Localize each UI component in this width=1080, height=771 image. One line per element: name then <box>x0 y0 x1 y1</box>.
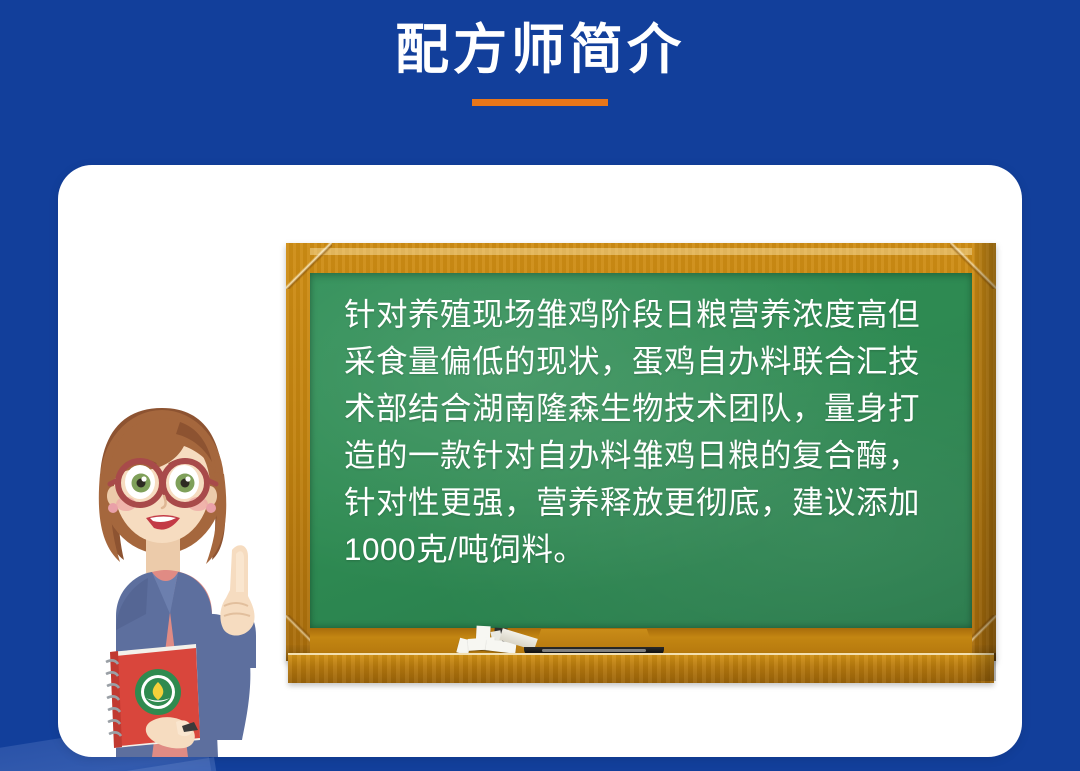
eraser-felt-highlight <box>542 649 646 652</box>
nutritionist-svg <box>80 400 290 757</box>
blackboard-frame: 针对养殖现场雏鸡阶段日粮营养浓度高但采食量偏低的现状，蛋鸡自办料联合汇技术部结合… <box>286 243 996 661</box>
blackboard-surface: 针对养殖现场雏鸡阶段日粮营养浓度高但采食量偏低的现状，蛋鸡自办料联合汇技术部结合… <box>310 273 972 628</box>
blackboard-ledge-front-shadow <box>970 653 996 681</box>
title-underline-bar <box>472 99 608 106</box>
page-title: 配方师简介 <box>0 12 1080 88</box>
company-logo-icon <box>135 669 181 715</box>
blackboard-ledge-front <box>288 653 994 683</box>
page-root: 配方师简介 <box>0 0 1080 771</box>
blackboard: 针对养殖现场雏鸡阶段日粮营养浓度高但采食量偏低的现状，蛋鸡自办料联合汇技术部结合… <box>286 243 996 683</box>
page-header: 配方师简介 <box>0 0 1080 150</box>
nutritionist-illustration <box>80 400 290 757</box>
frame-right-shadow <box>974 243 996 661</box>
blackboard-text: 针对养殖现场雏鸡阶段日粮营养浓度高但采食量偏低的现状，蛋鸡自办料联合汇技术部结合… <box>344 291 944 573</box>
content-card: 针对养殖现场雏鸡阶段日粮营养浓度高但采食量偏低的现状，蛋鸡自办料联合汇技术部结合… <box>58 165 1022 757</box>
frame-top-highlight <box>310 248 972 255</box>
